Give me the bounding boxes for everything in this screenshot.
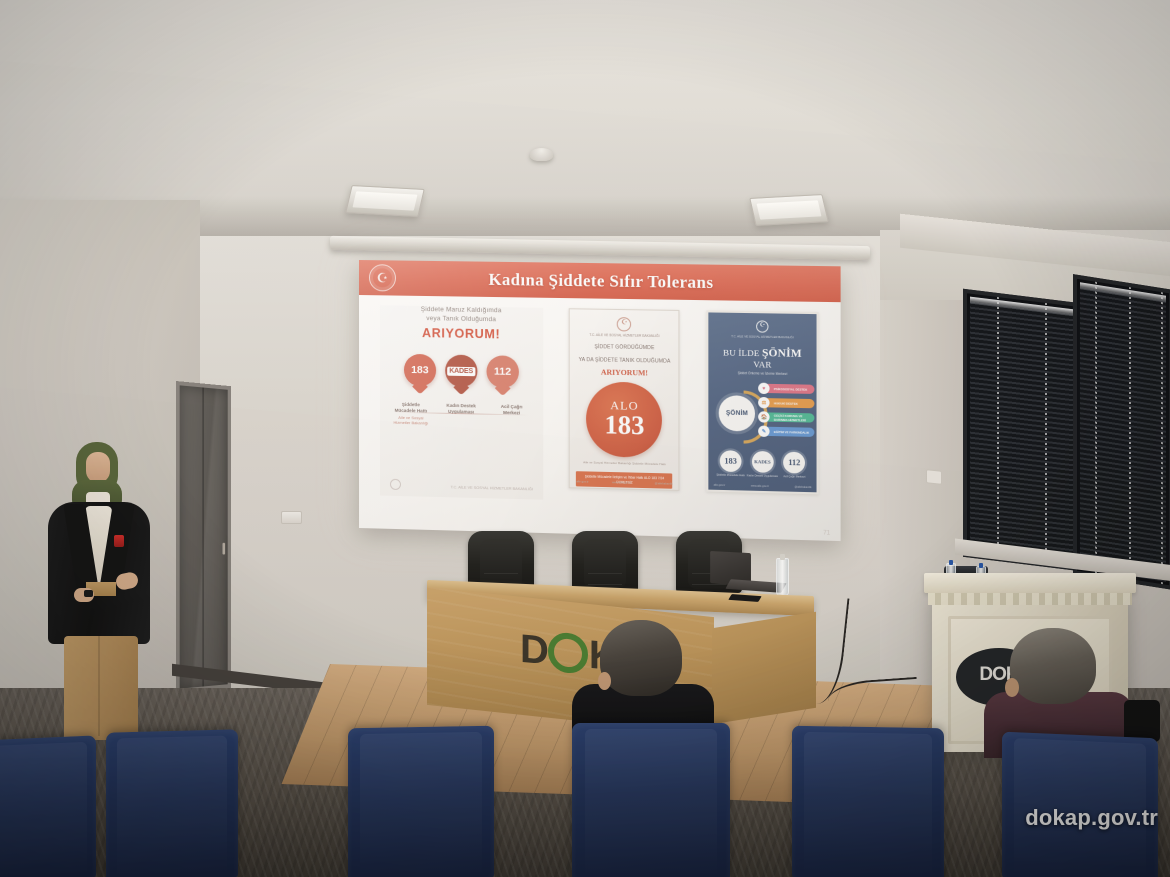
house-icon: 🏠 [758,411,769,422]
sonim-service-2-label: HUKUKİ DESTEK [774,401,798,406]
panel3-title-suffix: VAR [753,359,771,370]
attendee-ear [598,672,611,690]
presenter-trousers [64,636,138,740]
pin-112: 112 [486,356,518,389]
slide-page-number: 71 [823,530,830,536]
panel3-number-112: 112 Acil Çağrı Merkezi [779,452,810,480]
pin-112-value: 112 [486,356,518,389]
sonim-service-4-label: EĞİTİM VE FARKINDALIK [774,430,809,435]
panel3-number-112-caption: Acil Çağrı Merkezi [779,475,810,479]
panel2-foot-center: www.aile.gov.tr [612,480,631,485]
audience-chair [106,729,238,877]
blind-cord[interactable] [1095,282,1097,574]
door-seam [203,387,205,686]
conference-room-photo: ☪ Kadına Şiddete Sıfır Tolerans Şiddete … [0,0,1170,877]
panel3-number-kades: KADES Kadın Destek Uygulaması [747,451,778,479]
panel1-footer-text: T.C. AİLE VE SOSYAL HİZMETLER BAKANLIĞI [451,486,533,494]
podium-dentil-moulding [928,593,1132,605]
table-logo-letter-d: D [520,626,547,673]
slide-panel-sonim-poster: ☪ T.C. AİLE VE SOSYAL HİZMETLER BAKANLIĞ… [706,310,818,494]
window-right [1073,274,1170,590]
sonim-service-1-label: PSİKOSOSYAL DESTEK [774,387,807,392]
slide-title: Kadına Şiddete Sıfır Tolerans [396,268,841,295]
door[interactable] [176,381,231,693]
window-left-blinds [970,297,1074,564]
bag-on-floor [1124,700,1160,742]
panel2-foot-right: @ailebakanlik [655,481,673,486]
podium-top-ledge [924,573,1136,593]
presenter-trouser-seam [98,636,100,736]
pencil-icon: ✎ [758,426,769,437]
panel3-number-kades-caption: Kadın Destek Uygulaması [747,474,778,478]
blind-cord[interactable] [1129,287,1131,579]
panel1-line2: veya Tanık Olduğumda [380,314,543,325]
executive-chair [572,531,638,593]
window-right-blinds [1080,282,1166,582]
sonim-service-3: 🏠 GEÇİCİ KORUMA VE BARINMA HİZMETLERİ [762,413,814,423]
panel3-title: BU İLDE ŞÖNİM VAR [715,346,811,370]
sonim-service-4: ✎ EĞİTİM VE FARKINDALIK [762,427,814,437]
window-left [963,289,1081,571]
panel3-number-183: 183 Şiddetle Mücadele Hattı [715,450,746,478]
panel3-foot-left: aile.gov.tr [714,484,725,487]
panel3-ministry-text: T.C. AİLE VE SOSYAL HİZMETLER BAKANLIĞI [715,334,811,340]
sonim-service-2: ⚖ HUKUKİ DESTEK [762,398,814,408]
panel2-subtitle: Aile ve Sosyal Hizmetler Bakanlığı Şidde… [576,460,672,467]
presenter-speaker [28,440,168,740]
projection-screen: ☪ Kadına Şiddete Sıfır Tolerans Şiddete … [359,260,841,541]
attendee-head [1010,628,1096,704]
site-watermark: dokap.gov.tr [1025,805,1158,831]
panel1-pin-group: 183 KADES 112 [380,354,543,389]
panel2-head1: ŞİDDET GÖRDÜĞÜMDE [576,344,672,353]
panel3-number-183-value: 183 [720,450,742,472]
panel3-title-main: ŞÖNİM [762,347,802,360]
panel3-foot-right: @ailebakanlik [795,486,812,489]
panel2-head2: YA DA ŞİDDETE TANIK OLDUĞUMDA [576,357,672,366]
panel1-footer: T.C. AİLE VE SOSYAL HİZMETLER BAKANLIĞI [390,479,533,494]
panel1-heading: ARIYORUM! [380,326,543,343]
pin-kades-label: Kadın Destek Uygulaması [440,403,481,427]
scales-icon: ⚖ [758,397,769,408]
panel2-seal-icon: ☪ [617,317,631,331]
presenter-remote-clicker [84,590,93,597]
heart-icon: ♥ [758,383,769,394]
slide-panel-ariyorum: Şiddete Maruz Kaldığımda veya Tanık Oldu… [380,305,543,499]
attendee-ear [1005,678,1019,697]
ministry-seal-icon: ☪ [369,264,396,291]
pin-kades-badge: KADES [445,355,477,388]
presenter-flag-pin-icon [114,535,124,547]
ceiling-light-fixture-left [345,185,425,217]
panel3-title-prefix: BU İLDE [723,348,759,359]
panel1-footer-seal-icon [390,479,401,490]
alo-183-circle: ALO 183 [587,381,663,458]
panel3-subtitle: Şiddet Önleme ve İzleme Merkezi [715,371,811,377]
door-handle[interactable] [223,543,226,555]
panel2-foot-left: aile.gov.tr [576,479,588,483]
panel3-number-183-caption: Şiddetle Mücadele Hattı [715,474,746,478]
kades-app-icon: KADES [447,366,475,376]
panel3-number-112-value: 112 [783,452,805,474]
dokap-o-ring-icon [548,631,588,674]
pin-183-value: 183 [404,354,436,387]
pin-183-label: Şiddetle Mücadele Hattı Aile ve Sosyal H… [390,402,431,426]
presenter-face [86,452,110,483]
panel3-diagram: ŞÖNİM ♥ PSİKOSOSYAL DESTEK ⚖ HUKUKİ DEST… [715,381,811,446]
audience-chair [572,723,730,877]
panel2-ministry-text: T.C. AİLE VE SOSYAL HİZMETLER BAKANLIĞI [576,333,672,339]
audience-chair [348,726,494,877]
panel3-footer: aile.gov.tr www.aile.gov.tr @ailebakanli… [714,484,812,489]
smoke-detector-icon [530,148,553,161]
water-bottle-on-table [776,558,789,596]
pin-183-note: Aile ve Sosyal Hizmetler Bakanlığı [390,414,431,426]
sonim-service-3-label: GEÇİCİ KORUMA VE BARINMA HİZMETLERİ [774,413,815,422]
light-switch[interactable] [281,511,302,524]
panel3-foot-center: www.aile.gov.tr [751,485,769,489]
blind-cord[interactable] [1161,292,1163,584]
pin-kades: KADES [445,355,477,388]
slide-body: Şiddete Maruz Kaldığımda veya Tanık Oldu… [359,295,841,541]
sonim-service-1: ♥ PSİKOSOSYAL DESTEK [762,384,814,394]
blind-cord[interactable] [997,297,999,557]
pin-183: 183 [404,354,436,387]
slide-panel-alo183-poster: ☪ T.C. AİLE VE SOSYAL HİZMETLER BAKANLIĞ… [569,308,680,491]
wall-outlet[interactable] [926,469,942,485]
panel3-number-kades-value: KADES [752,451,774,473]
blind-cord[interactable] [1045,303,1047,563]
panel3-seal-icon: ☪ [756,320,768,332]
audience-chair [0,735,96,877]
attendee-head [600,620,682,696]
alo-number: 183 [604,411,644,440]
panel3-number-row: 183 Şiddetle Mücadele Hattı KADES Kadın … [715,450,811,479]
ceiling-light-fixture-right [749,194,829,226]
panel2-heading: ARIYORUM! [576,367,672,378]
audience-chair [792,726,944,877]
pin-112-label: Acil Çağrı Merkezi [491,404,533,428]
